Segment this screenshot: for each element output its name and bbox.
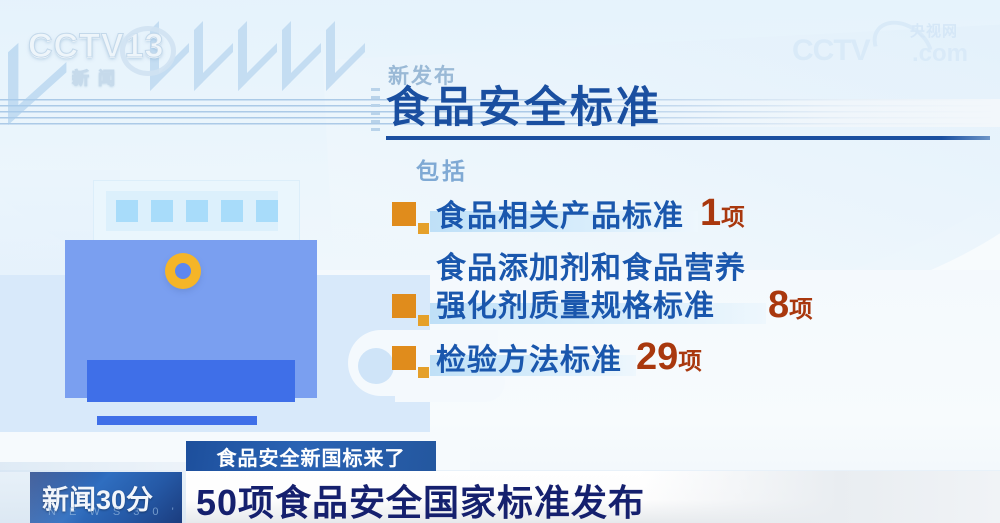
broadcast-graphic: CCTV13 新闻 CCTV 央视网 .com 新发布 食品安全标准 包括 <box>0 0 1000 523</box>
channel-logo: CCTV13 新闻 <box>28 28 213 90</box>
list-item-label-line1: 食品添加剂和食品营养 <box>436 250 746 288</box>
list-item-label: 检验方法标准 <box>436 344 622 377</box>
title-underline <box>386 136 990 140</box>
list-item: 食品相关产品标准 1项 <box>392 196 745 234</box>
document-square-icon <box>151 200 173 222</box>
list-item-text: 食品添加剂和食品营养 强化剂质量规格标准 <box>436 250 746 326</box>
count-number: 29 <box>636 336 678 378</box>
list-item-text: 检验方法标准 <box>436 344 622 378</box>
bullet-square-icon <box>392 344 430 378</box>
watermark-brand: CCTV <box>792 34 870 68</box>
list-item-count: 1项 <box>700 196 745 234</box>
count-number: 8 <box>768 284 789 326</box>
document-square-icon <box>256 200 278 222</box>
list-item: 检验方法标准 29项 <box>392 340 702 378</box>
folder-line <box>97 416 257 425</box>
topic-strip-label: 食品安全新国标来了 <box>217 442 406 471</box>
folder-button-icon <box>165 253 201 289</box>
channel-name: CCTV <box>28 27 125 65</box>
document-square-icon <box>221 200 243 222</box>
bullet-square-icon <box>392 292 430 326</box>
document-square-icon <box>116 200 138 222</box>
lower-third-cap <box>0 462 186 472</box>
watermark-cn-label: 央视网 <box>910 20 958 41</box>
lower-third-headline: 50项食品安全国家标准发布 <box>196 474 645 523</box>
topic-strip: 食品安全新国标来了 <box>186 441 436 471</box>
count-unit: 项 <box>678 348 702 374</box>
folder-button-center <box>175 263 191 279</box>
list-item: 食品添加剂和食品营养 强化剂质量规格标准 8项 <box>392 250 813 326</box>
program-logo: 新闻30分 N E W S 3 0 ' <box>30 472 182 523</box>
page-title: 食品安全标准 <box>386 84 662 132</box>
includes-label: 包括 <box>416 152 468 186</box>
channel-sub-label: 新闻 <box>72 64 124 89</box>
channel-logo-ring-icon <box>120 26 176 76</box>
folder-illustration <box>65 180 325 405</box>
program-logo-sublabel: N E W S 3 0 ' <box>48 506 179 518</box>
list-item-count: 8项 <box>768 288 813 326</box>
decorative-dot <box>358 348 394 384</box>
title-tick-marks <box>371 88 380 132</box>
document-square-icon <box>186 200 208 222</box>
bullet-square-icon <box>392 200 430 234</box>
watermark: CCTV 央视网 .com <box>792 20 982 68</box>
headline-band-tail <box>640 471 1000 523</box>
list-item-count: 29项 <box>636 340 702 378</box>
watermark-domain: .com <box>912 40 968 68</box>
list-item-label-line2: 强化剂质量规格标准 <box>436 288 746 326</box>
list-item-text: 食品相关产品标准 <box>436 200 684 234</box>
count-unit: 项 <box>721 204 745 230</box>
folder-bar <box>87 360 295 402</box>
list-item-label: 食品相关产品标准 <box>436 200 684 233</box>
count-unit: 项 <box>789 296 813 322</box>
count-number: 1 <box>700 192 721 234</box>
